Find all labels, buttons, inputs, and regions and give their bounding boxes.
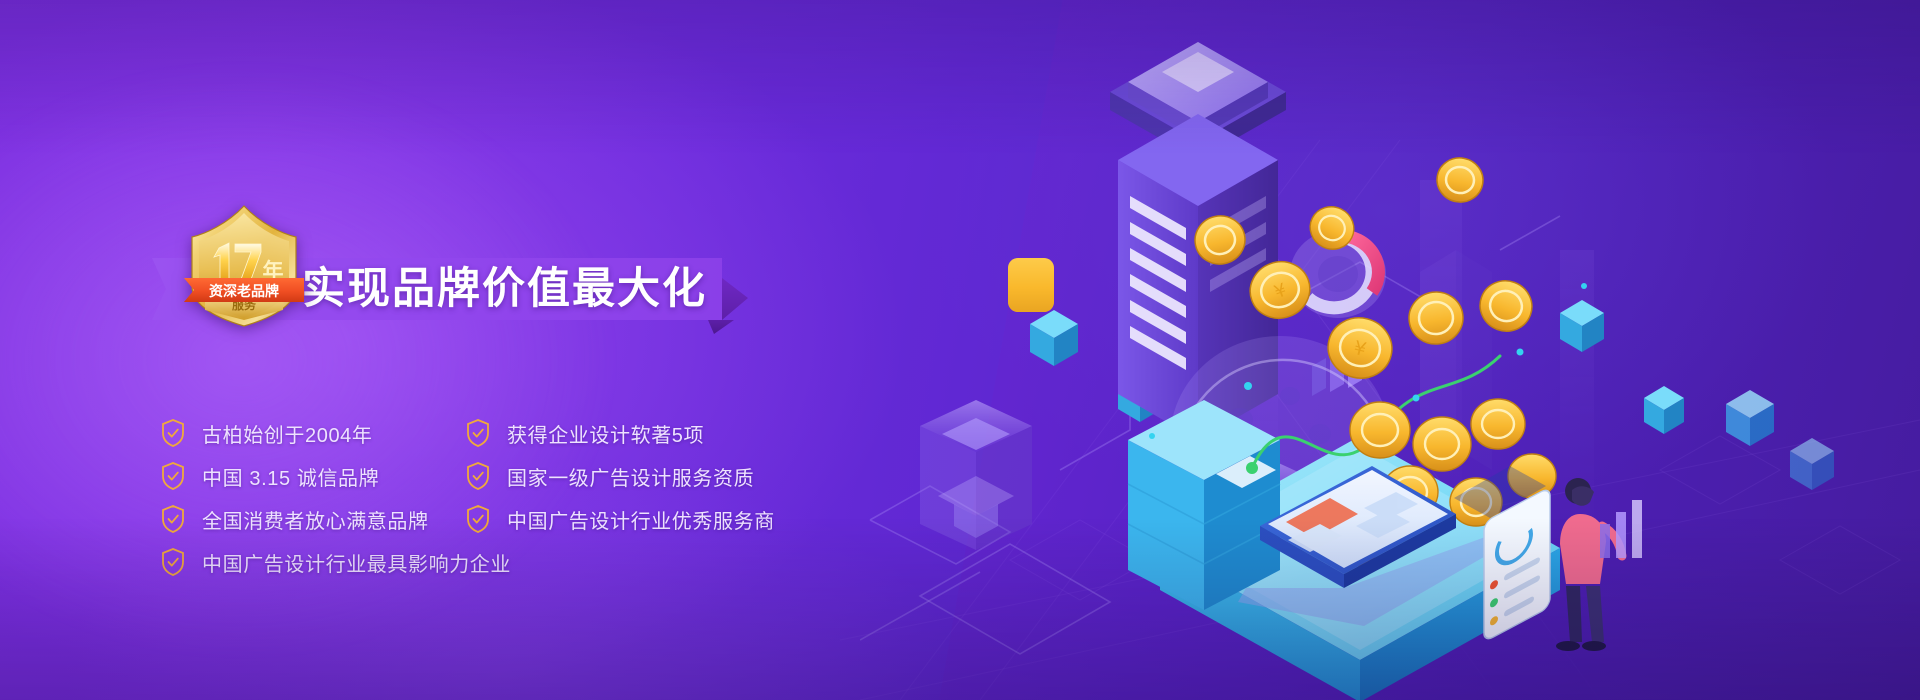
feature-item: 中国广告设计行业优秀服务商 — [465, 504, 775, 534]
banner-content: 实现品牌价值最大化 — [0, 0, 900, 700]
page-title: 实现品牌价值最大化 — [302, 258, 707, 320]
feature-row: 中国 3.15 诚信品牌 国家一级广告设计服务资质 — [160, 461, 860, 491]
mini-bars — [1600, 500, 1642, 558]
shield-check-icon — [465, 461, 491, 491]
feature-item: 全国消费者放心满意品牌 — [160, 504, 465, 534]
shield-check-icon — [465, 418, 491, 448]
feature-label: 古柏始创于2004年 — [202, 419, 373, 448]
shield-check-icon — [160, 461, 186, 491]
feature-label: 中国广告设计行业最具影响力企业 — [202, 548, 511, 577]
shield-check-icon — [465, 504, 491, 534]
feature-label: 获得企业设计软著5项 — [507, 419, 704, 448]
feature-row: 古柏始创于2004年 获得企业设计软著5项 — [160, 418, 860, 448]
shield-check-icon — [160, 418, 186, 448]
glass-pedestal — [920, 400, 1032, 550]
shield-check-icon — [160, 504, 186, 534]
feature-item: 中国 3.15 诚信品牌 — [160, 461, 465, 491]
feature-item: 古柏始创于2004年 — [160, 418, 465, 448]
ribbon-tail-fold — [708, 320, 734, 334]
isometric-illustration: ¥ ¥ — [860, 0, 1920, 700]
shield-check-icon — [160, 547, 186, 577]
anniversary-badge: 年 服务 资深老品牌 17年 — [183, 200, 305, 330]
feature-item: 国家一级广告设计服务资质 — [465, 461, 754, 491]
feature-row: 全国消费者放心满意品牌 中国广告设计行业优秀服务商 — [160, 504, 860, 534]
feature-row: 中国广告设计行业最具影响力企业 — [160, 547, 860, 577]
feature-item: 中国广告设计行业最具影响力企业 — [160, 547, 465, 577]
blue-block — [1128, 400, 1280, 610]
feature-label: 中国 3.15 诚信品牌 — [202, 462, 379, 491]
badge-ribbon-label: 资深老品牌 — [209, 283, 279, 300]
orange-tile — [1008, 258, 1054, 312]
ribbon-tail — [722, 278, 748, 320]
feature-label: 全国消费者放心满意品牌 — [202, 505, 429, 534]
right-cubes — [1726, 390, 1834, 490]
feature-list: 古柏始创于2004年 获得企业设计软著5项 — [160, 418, 860, 590]
feature-label: 国家一级广告设计服务资质 — [507, 462, 754, 491]
feature-item: 获得企业设计软著5项 — [465, 418, 704, 448]
person-figure — [1556, 478, 1622, 651]
feature-label: 中国广告设计行业优秀服务商 — [507, 505, 775, 534]
promo-banner: 实现品牌价值最大化 — [0, 0, 1920, 700]
